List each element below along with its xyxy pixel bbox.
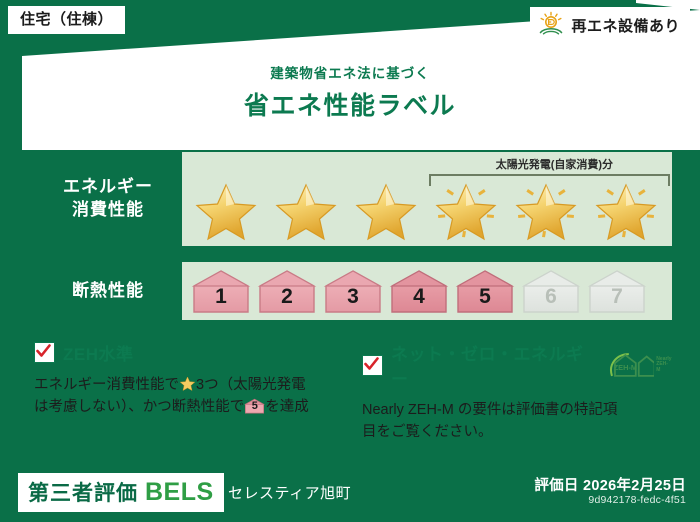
energy-performance-label: 住宅（住棟） 再エネ設備あり 建築物省エネ法に基づく 省エネ性能ラベル	[0, 0, 700, 522]
star-icon	[192, 179, 260, 243]
star-icon	[272, 179, 340, 243]
svg-text:ZEH-M: ZEH-M	[613, 363, 637, 372]
building-type-tag: 住宅（住棟）	[8, 6, 125, 34]
insulation-level-number: 7	[586, 285, 648, 309]
insulation-level-number: 5	[454, 285, 516, 309]
star-icon-solar	[512, 179, 580, 243]
star-rating	[186, 178, 666, 244]
checkbox-checked-icon	[34, 342, 55, 363]
net-zero-text-line1: Nearly ZEH-M の要件は評価書の特記項	[362, 402, 617, 418]
bels-badge: 第三者評価 BELS	[18, 473, 224, 512]
insulation-level-badge: 1	[190, 266, 252, 316]
inline-star-icon	[179, 375, 196, 392]
insulation-level-badge: 4	[388, 266, 450, 316]
star-icon	[352, 179, 420, 243]
inline-badge-number: 5	[244, 398, 265, 415]
net-zero-header: ネット・ゼロ・エネルギー ZEH-M Nearly ZEH-M	[362, 340, 672, 390]
solar-generation-note: 太陽光発電(自家消費)分	[437, 156, 672, 172]
insulation-level-badge-inactive: 7	[586, 266, 648, 316]
zeh-logo-caption-2: ZEH-M	[656, 362, 672, 373]
star-icon-solar	[432, 179, 500, 243]
insulation-row-body: 1 2 3	[182, 262, 672, 320]
energy-row-label-line1: エネルギー	[63, 176, 153, 199]
title-block: 建築物省エネ法に基づく 省エネ性能ラベル	[0, 62, 700, 122]
solar-sun-icon	[538, 11, 564, 40]
energy-row-label: エネルギー 消費性能	[34, 152, 182, 246]
zeh-m-logo: ZEH-M Nearly ZEH-M	[609, 352, 672, 378]
energy-row-body: 太陽光発電(自家消費)分	[182, 152, 672, 246]
solar-bracket	[429, 174, 670, 186]
bels-logo-text: BELS	[145, 478, 214, 507]
insulation-level-badge: 3	[322, 266, 384, 316]
energy-row-label-line2: 消費性能	[72, 199, 144, 222]
net-zero-text-line2: 目をご覧ください。	[362, 424, 493, 440]
zeh-desc-starcount: 3つ（太陽光発電	[196, 377, 306, 393]
renewable-equipment-badge: 再エネ設備あり	[530, 7, 690, 44]
zeh-standard-title: ZEH水準	[63, 340, 134, 365]
insulation-performance-row: 断熱性能 1	[34, 262, 672, 320]
insulation-level-number: 2	[256, 285, 318, 309]
bels-japanese-label: 第三者評価	[28, 477, 138, 507]
energy-performance-row: エネルギー 消費性能 太陽光発電(自家消費)分	[34, 152, 672, 246]
zeh-desc-part2: は考慮しない）、かつ断熱性能で	[34, 399, 244, 415]
building-name: セレスティア旭町	[228, 482, 351, 503]
insulation-level-badge-inactive: 6	[520, 266, 582, 316]
net-zero-energy-panel: ネット・ゼロ・エネルギー ZEH-M Nearly ZEH-M Nearly Z…	[362, 340, 672, 444]
page-title: 省エネ性能ラベル	[0, 86, 700, 122]
zeh-standard-description: エネルギー消費性能で3つ（太陽光発電は考慮しない）、かつ断熱性能で5を達成	[34, 374, 354, 419]
insulation-row-label: 断熱性能	[34, 262, 182, 320]
label-subtitle: 建築物省エネ法に基づく	[0, 62, 700, 82]
zeh-standard-panel: ZEH水準 エネルギー消費性能で3つ（太陽光発電は考慮しない）、かつ断熱性能で5…	[34, 340, 354, 419]
renewable-badge-label: 再エネ設備あり	[571, 15, 680, 36]
net-zero-title: ネット・ゼロ・エネルギー	[391, 340, 595, 390]
star-icon-solar	[592, 179, 660, 243]
checkbox-checked-icon	[362, 355, 383, 376]
insulation-level-badge: 5	[454, 266, 516, 316]
evaluation-id: 9d942178-fedc-4f51	[588, 494, 686, 506]
zeh-desc-part3: を達成	[265, 399, 309, 415]
inline-insulation-badge: 5	[244, 397, 265, 415]
zeh-standard-header: ZEH水準	[34, 340, 354, 365]
insulation-level-number: 1	[190, 285, 252, 309]
zeh-desc-part1: エネルギー消費性能で	[34, 377, 179, 393]
insulation-level-scale: 1 2 3	[190, 262, 664, 320]
net-zero-description: Nearly ZEH-M の要件は評価書の特記項目をご覧ください。	[362, 399, 672, 444]
insulation-level-number: 6	[520, 285, 582, 309]
insulation-level-badge: 2	[256, 266, 318, 316]
insulation-level-number: 4	[388, 285, 450, 309]
insulation-level-number: 3	[322, 285, 384, 309]
evaluation-date: 評価日 2026年2月25日	[534, 474, 686, 495]
label-footer: 第三者評価 BELS セレスティア旭町 評価日 2026年2月25日 9d942…	[0, 464, 700, 522]
